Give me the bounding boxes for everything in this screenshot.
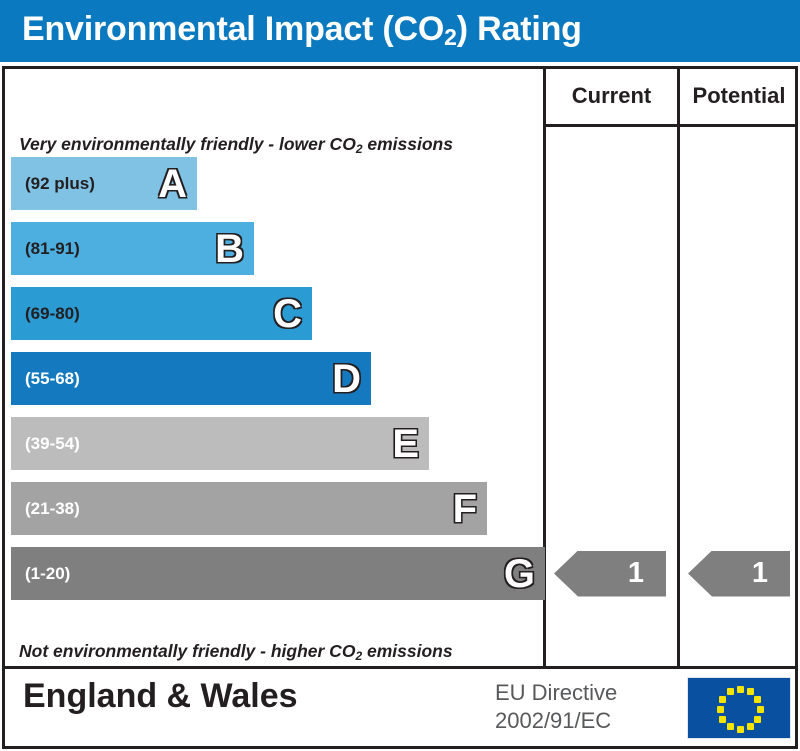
current-rating-arrow-icon [554,551,666,597]
eu-flag-star [754,696,761,703]
rating-band-range-b: (81-91) [25,239,80,259]
scale-note-bottom: Not environmentally friendly - higher CO… [19,641,453,662]
eu-directive-line1: EU Directive [495,679,680,707]
potential-rating-arrow-icon [688,551,790,597]
rating-band-g: (1-20)G [11,547,545,600]
rating-band-c: (69-80)C [11,287,312,340]
eu-flag-star [727,723,734,730]
eu-flag-star [747,688,754,695]
page-title-tail: ) Rating [457,10,582,48]
eu-flag-star [727,688,734,695]
column-header-potential: Potential [680,83,798,109]
rating-band-letter-c: C [273,294,302,334]
region-label: England & Wales [23,677,298,716]
rating-band-range-e: (39-54) [25,434,80,454]
eu-flag-star [757,706,764,713]
rating-band-d: (55-68)D [11,352,371,405]
rating-band-b: (81-91)B [11,222,254,275]
chart-body: Current Potential Very environmentally f… [2,66,798,669]
eu-flag-star [747,723,754,730]
rating-band-range-d: (55-68) [25,369,80,389]
eu-flag-icon [687,677,791,739]
scale-note-top-suffix: emissions [363,134,453,154]
rating-band-e: (39-54)E [11,417,429,470]
chart-footer: England & Wales EU Directive 2002/91/EC [2,669,798,749]
scale-note-top-subscript: 2 [356,142,363,156]
eu-flag-star [719,696,726,703]
rating-band-f: (21-38)F [11,482,487,535]
column-header-rule [543,124,798,127]
scale-note-top-prefix: Very environmentally friendly - lower CO [19,134,356,154]
rating-band-letter-b: B [215,229,244,269]
potential-rating-marker: 1 [688,551,790,597]
scale-note-top: Very environmentally friendly - lower CO… [19,134,453,155]
rating-band-letter-d: D [332,359,361,399]
eu-flag-star [754,716,761,723]
eu-directive-text: EU Directive 2002/91/EC [495,679,680,734]
rating-band-letter-g: G [504,554,535,594]
rating-band-range-f: (21-38) [25,499,80,519]
scale-note-bottom-prefix: Not environmentally friendly - higher CO [19,641,355,661]
rating-band-letter-f: F [453,489,477,529]
scale-note-bottom-subscript: 2 [355,649,362,663]
rating-band-range-a: (92 plus) [25,174,95,194]
eu-flag-star [737,686,744,693]
epc-environmental-impact-chart: Environmental Impact (CO2) Rating Curren… [0,0,800,751]
eu-flag-star [719,716,726,723]
current-rating-marker: 1 [554,551,666,597]
page-title: Environmental Impact (CO2) Rating [22,10,582,49]
rating-band-a: (92 plus)A [11,157,197,210]
eu-flag-star [717,706,724,713]
eu-flag-star [737,726,744,733]
current-rating-value: 1 [628,559,644,588]
chart-title-bar: Environmental Impact (CO2) Rating [0,0,800,62]
scale-note-bottom-suffix: emissions [362,641,452,661]
rating-band-letter-e: E [392,424,419,464]
column-header-current: Current [546,83,677,109]
potential-rating-value: 1 [752,559,768,588]
rating-band-range-g: (1-20) [25,564,70,584]
column-separator-potential [677,69,680,666]
page-title-subscript: 2 [444,24,457,50]
rating-band-letter-a: A [158,164,187,204]
page-title-main: Environmental Impact (CO [22,10,444,48]
rating-band-range-c: (69-80) [25,304,80,324]
eu-directive-line2: 2002/91/EC [495,707,680,735]
